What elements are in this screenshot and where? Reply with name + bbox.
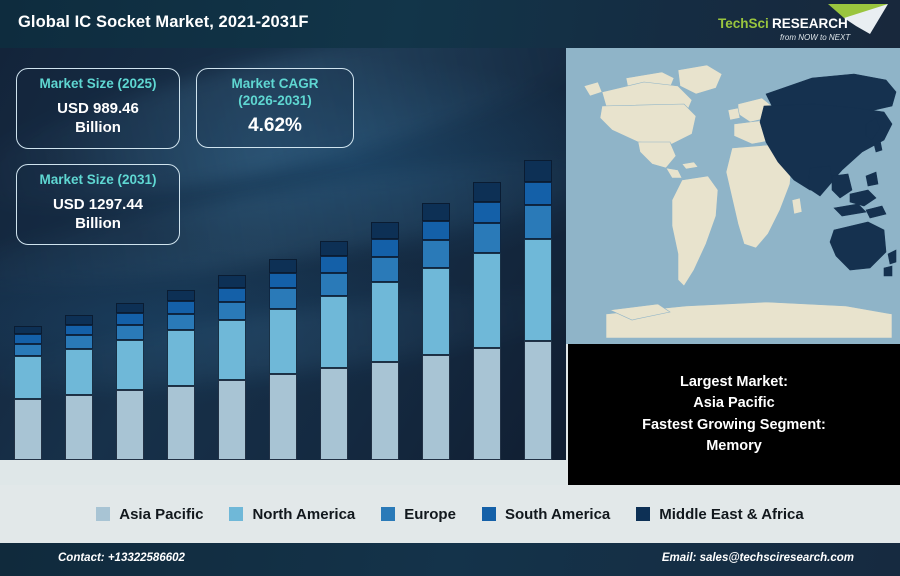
card-label: Market CAGR [205,76,345,93]
bar-segment-asia-pacific [116,390,144,460]
bar-segment-north-america [320,296,348,369]
techsci-research-logo: TechSci RESEARCH from NOW to NEXT [710,2,892,46]
bar-segment-south-america [14,334,42,344]
bar-segment-europe [218,302,246,321]
infographic-poster: Global IC Socket Market, 2021-2031F Tech… [0,0,900,576]
bar-segment-asia-pacific [320,368,348,460]
bar-2026E [269,259,297,460]
bar-segment-asia-pacific [14,399,42,460]
bar-segment-south-america [218,288,246,302]
bar-segment-asia-pacific [167,386,195,460]
bar-segment-north-america [116,340,144,390]
bar-segment-middle-east-africa [524,160,552,182]
footer-bar: Contact: +13322586602 Email: sales@techs… [0,543,900,576]
bar-segment-south-america [269,273,297,288]
bar-segment-south-america [524,182,552,205]
legend-swatch-icon [482,507,496,521]
market-cagr-card: Market CAGR (2026-2031) 4.62% [196,68,354,148]
legend-swatch-icon [381,507,395,521]
bar-2030F [473,182,501,460]
bar-segment-middle-east-africa [422,203,450,221]
card-value: 4.62% [205,114,345,139]
market-facts-box: Largest Market: Asia Pacific Fastest Gro… [568,344,900,485]
bar-segment-asia-pacific [218,380,246,460]
bar-2028F [371,222,399,460]
legend-item-asia-pacific[interactable]: Asia Pacific [96,506,203,523]
bar-2025 [218,275,246,460]
card-label: Market Size (2025) [25,76,171,93]
legend-label: South America [505,506,610,523]
bar-segment-asia-pacific [371,362,399,460]
largest-market-value: Asia Pacific [693,393,774,414]
world-map-panel [566,48,900,344]
card-value: USD 989.46 [25,99,171,119]
bar-segment-asia-pacific [269,374,297,460]
fastest-segment-value: Memory [706,436,762,457]
legend-item-south-america[interactable]: South America [482,506,610,523]
bar-segment-south-america [473,202,501,223]
email-text: Email: sales@techsciresearch.com [662,552,854,564]
bar-2023 [116,303,144,460]
bar-segment-europe [422,240,450,268]
bar-segment-north-america [218,320,246,380]
bar-segment-europe [524,205,552,238]
bar-segment-europe [116,325,144,340]
card-value-unit: Billion [25,214,171,234]
chart-panel: 202120222023202420252026E2027F2028F2029F… [0,48,566,485]
card-label-period: (2026-2031) [205,93,345,110]
bar-2027F [320,241,348,460]
bar-segment-europe [320,273,348,296]
bar-segment-middle-east-africa [116,303,144,313]
bar-segment-north-america [65,349,93,395]
bar-segment-north-america [422,268,450,355]
bar-segment-europe [371,257,399,282]
bar-segment-north-america [371,282,399,362]
logo-icon: TechSci RESEARCH from NOW to NEXT [710,2,892,46]
fastest-segment-label: Fastest Growing Segment: [642,415,826,436]
bar-segment-asia-pacific [422,355,450,460]
header-bar: Global IC Socket Market, 2021-2031F Tech… [0,0,900,48]
bar-segment-middle-east-africa [65,315,93,325]
world-map-icon [566,48,900,344]
bar-segment-middle-east-africa [473,182,501,202]
bar-segment-europe [65,335,93,348]
chart-legend: Asia PacificNorth AmericaEuropeSouth Ame… [0,485,900,543]
bar-segment-europe [269,288,297,309]
largest-market-label: Largest Market: [680,372,788,393]
market-size-2031-card: Market Size (2031) USD 1297.44 Billion [16,164,180,245]
card-label: Market Size (2031) [25,172,171,189]
bar-segment-north-america [524,239,552,342]
logo-research-text: RESEARCH [772,16,848,31]
bar-segment-asia-pacific [65,395,93,460]
bar-2022 [65,315,93,460]
bar-2021 [14,326,42,460]
bar-segment-south-america [167,301,195,314]
bar-segment-middle-east-africa [320,241,348,256]
logo-techsci-text: TechSci [718,16,769,31]
page-title: Global IC Socket Market, 2021-2031F [18,13,309,32]
bar-2024 [167,290,195,460]
bar-segment-north-america [167,330,195,385]
bar-segment-north-america [14,356,42,399]
bar-segment-asia-pacific [473,348,501,460]
market-size-2025-card: Market Size (2025) USD 989.46 Billion [16,68,180,149]
legend-label: Asia Pacific [119,506,203,523]
bar-segment-middle-east-africa [14,326,42,335]
legend-swatch-icon [96,507,110,521]
bar-2029F [422,203,450,460]
bar-segment-south-america [320,256,348,273]
card-value: USD 1297.44 [25,195,171,215]
bar-segment-middle-east-africa [269,259,297,273]
bar-segment-south-america [65,325,93,335]
bar-2031F [524,160,552,460]
legend-swatch-icon [229,507,243,521]
bar-segment-middle-east-africa [371,222,399,239]
bar-segment-south-america [371,239,399,257]
bar-segment-europe [167,314,195,331]
x-axis-band [0,460,566,485]
bar-segment-south-america [422,221,450,241]
bar-segment-south-america [116,313,144,324]
bar-segment-europe [14,344,42,356]
logo-tagline-text: from NOW to NEXT [780,33,851,42]
legend-label: Europe [404,506,456,523]
legend-item-north-america[interactable]: North America [229,506,355,523]
legend-swatch-icon [636,507,650,521]
bar-segment-middle-east-africa [167,290,195,301]
bar-segment-north-america [473,253,501,348]
contact-text: Contact: +13322586602 [58,552,185,564]
card-value-unit: Billion [25,118,171,138]
legend-item-middle-east-africa[interactable]: Middle East & Africa [636,506,803,523]
bar-segment-asia-pacific [524,341,552,460]
bar-segment-europe [473,223,501,253]
legend-label: Middle East & Africa [659,506,803,523]
legend-item-europe[interactable]: Europe [381,506,456,523]
bar-segment-middle-east-africa [218,275,246,288]
legend-label: North America [252,506,355,523]
bar-segment-north-america [269,309,297,375]
